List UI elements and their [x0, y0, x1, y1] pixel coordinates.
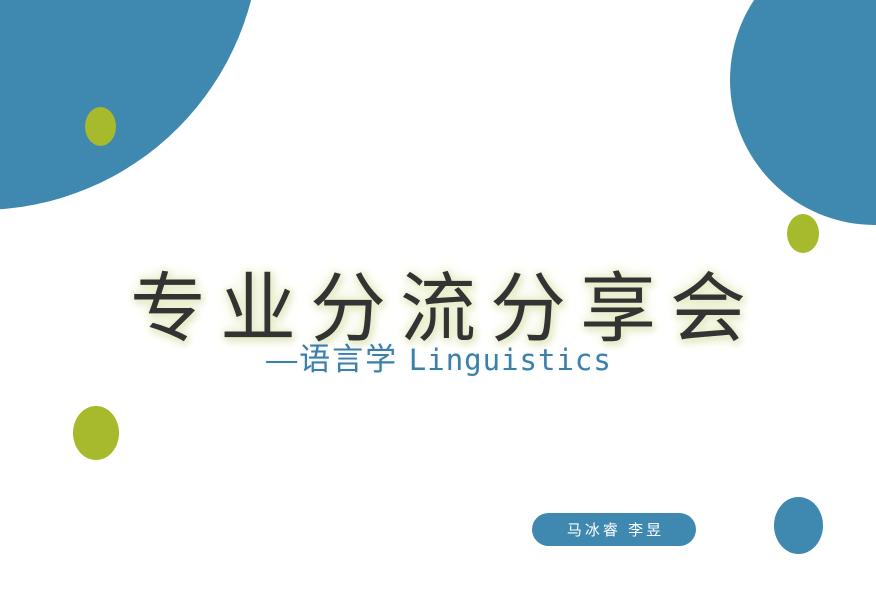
- subtitle-english: Linguistics: [409, 343, 612, 377]
- slide-main-title: 专业分流分享会: [0, 267, 876, 353]
- title-slide: 专业分流分享会 —语言学 Linguistics 马冰睿 李昱: [0, 0, 876, 595]
- slide-subtitle: —语言学 Linguistics: [0, 341, 876, 379]
- slide-content: 专业分流分享会 —语言学 Linguistics 马冰睿 李昱: [0, 0, 876, 595]
- presenter-names-label: 马冰睿 李昱: [567, 519, 664, 540]
- subtitle-chinese: —语言学: [266, 342, 398, 377]
- presenter-names-badge: 马冰睿 李昱: [532, 513, 696, 546]
